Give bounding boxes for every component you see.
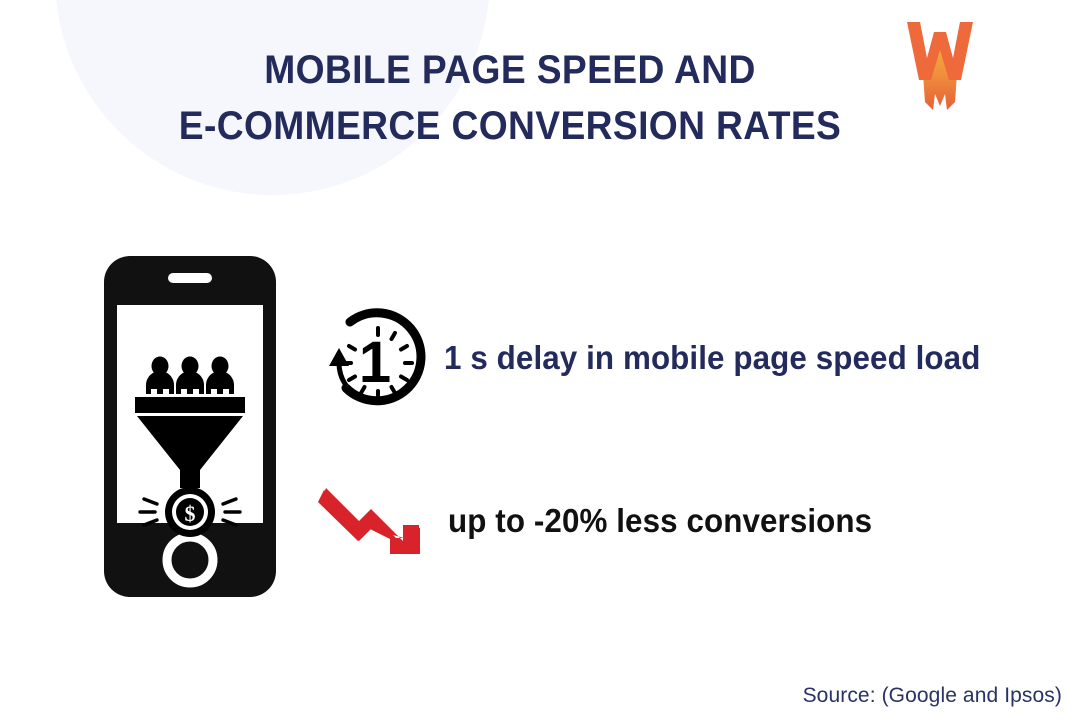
svg-text:$: $	[185, 501, 196, 526]
phone-speaker-slot	[168, 273, 212, 283]
stat-row-page-speed-delay: 1 1 s delay in mobile page speed load	[318, 302, 1009, 414]
page-title: MOBILE PAGE SPEED AND E-COMMERCE CONVERS…	[130, 42, 890, 154]
stat-label-page-speed-delay: 1 s delay in mobile page speed load	[444, 339, 980, 377]
w-flame-logo-icon	[903, 18, 977, 110]
stat-row-conversion-drop: up to -20% less conversions	[318, 484, 895, 558]
infographic-canvas: MOBILE PAGE SPEED AND E-COMMERCE CONVERS…	[0, 0, 1080, 722]
title-line-2: E-COMMERCE CONVERSION RATES	[157, 98, 864, 154]
clock-numeral: 1	[359, 330, 391, 395]
mobile-phone-icon: $	[104, 256, 276, 597]
clock-one-second-icon: 1	[318, 302, 430, 414]
source-attribution: Source: (Google and Ipsos)	[803, 684, 1062, 708]
downward-trend-arrow-icon	[318, 484, 424, 558]
stat-label-conversion-drop: up to -20% less conversions	[448, 502, 872, 540]
title-line-1: MOBILE PAGE SPEED AND	[157, 42, 864, 98]
